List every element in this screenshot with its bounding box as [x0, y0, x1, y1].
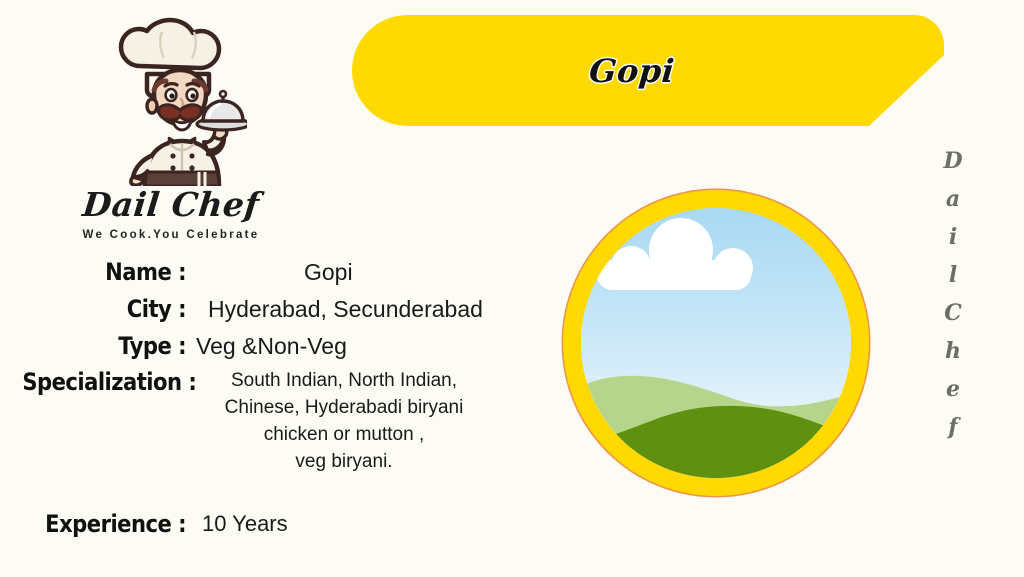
chef-details-list: Name : Gopi City : Hyderabad, Secunderab…: [0, 258, 545, 546]
detail-label-specialization: Specialization :: [22, 368, 186, 396]
chef-mascot-icon: [95, 14, 247, 186]
chef-profile-card: Dail Chef We Cook.You Celebrate Gopi Nam…: [0, 0, 1024, 577]
detail-value-type: Veg &Non-Veg: [186, 332, 347, 361]
detail-row-specialization: Specialization : South Indian, North Ind…: [0, 368, 545, 476]
watermark-letter: f: [930, 408, 976, 446]
detail-label-name: Name :: [22, 258, 186, 286]
watermark-letter: h: [930, 332, 976, 370]
watermark-letter: C: [930, 294, 976, 332]
detail-row-experience: Experience : 10 Years: [0, 510, 545, 538]
detail-value-city: Hyderabad, Secunderabad: [186, 295, 483, 324]
chef-photo-ring: [563, 190, 869, 496]
detail-value-experience: 10 Years: [186, 510, 288, 538]
brand-name: Dail Chef: [44, 188, 298, 223]
brand-tagline: We Cook.You Celebrate: [46, 229, 296, 241]
name-banner: Gopi: [352, 15, 944, 126]
detail-label-city: City :: [22, 295, 186, 323]
detail-row-city: City : Hyderabad, Secunderabad: [0, 295, 545, 324]
watermark-letter: l: [930, 256, 976, 294]
detail-row-name: Name : Gopi: [0, 258, 545, 287]
vertical-brand-watermark: D a i l C h e f: [930, 142, 976, 446]
chef-photo: [581, 208, 851, 478]
detail-label-type: Type :: [22, 332, 186, 360]
watermark-letter: a: [930, 180, 976, 218]
landscape-placeholder-icon: [581, 208, 851, 478]
brand-logo-block: Dail Chef We Cook.You Celebrate: [46, 14, 296, 241]
detail-row-type: Type : Veg &Non-Veg: [0, 332, 545, 361]
watermark-letter: e: [930, 370, 976, 408]
detail-label-experience: Experience :: [22, 510, 186, 538]
detail-value-specialization: South Indian, North Indian, Chinese, Hyd…: [186, 368, 494, 476]
banner-title: Gopi: [347, 15, 917, 126]
watermark-letter: i: [930, 218, 976, 256]
watermark-letter: D: [930, 142, 976, 180]
detail-value-name: Gopi: [186, 258, 353, 287]
